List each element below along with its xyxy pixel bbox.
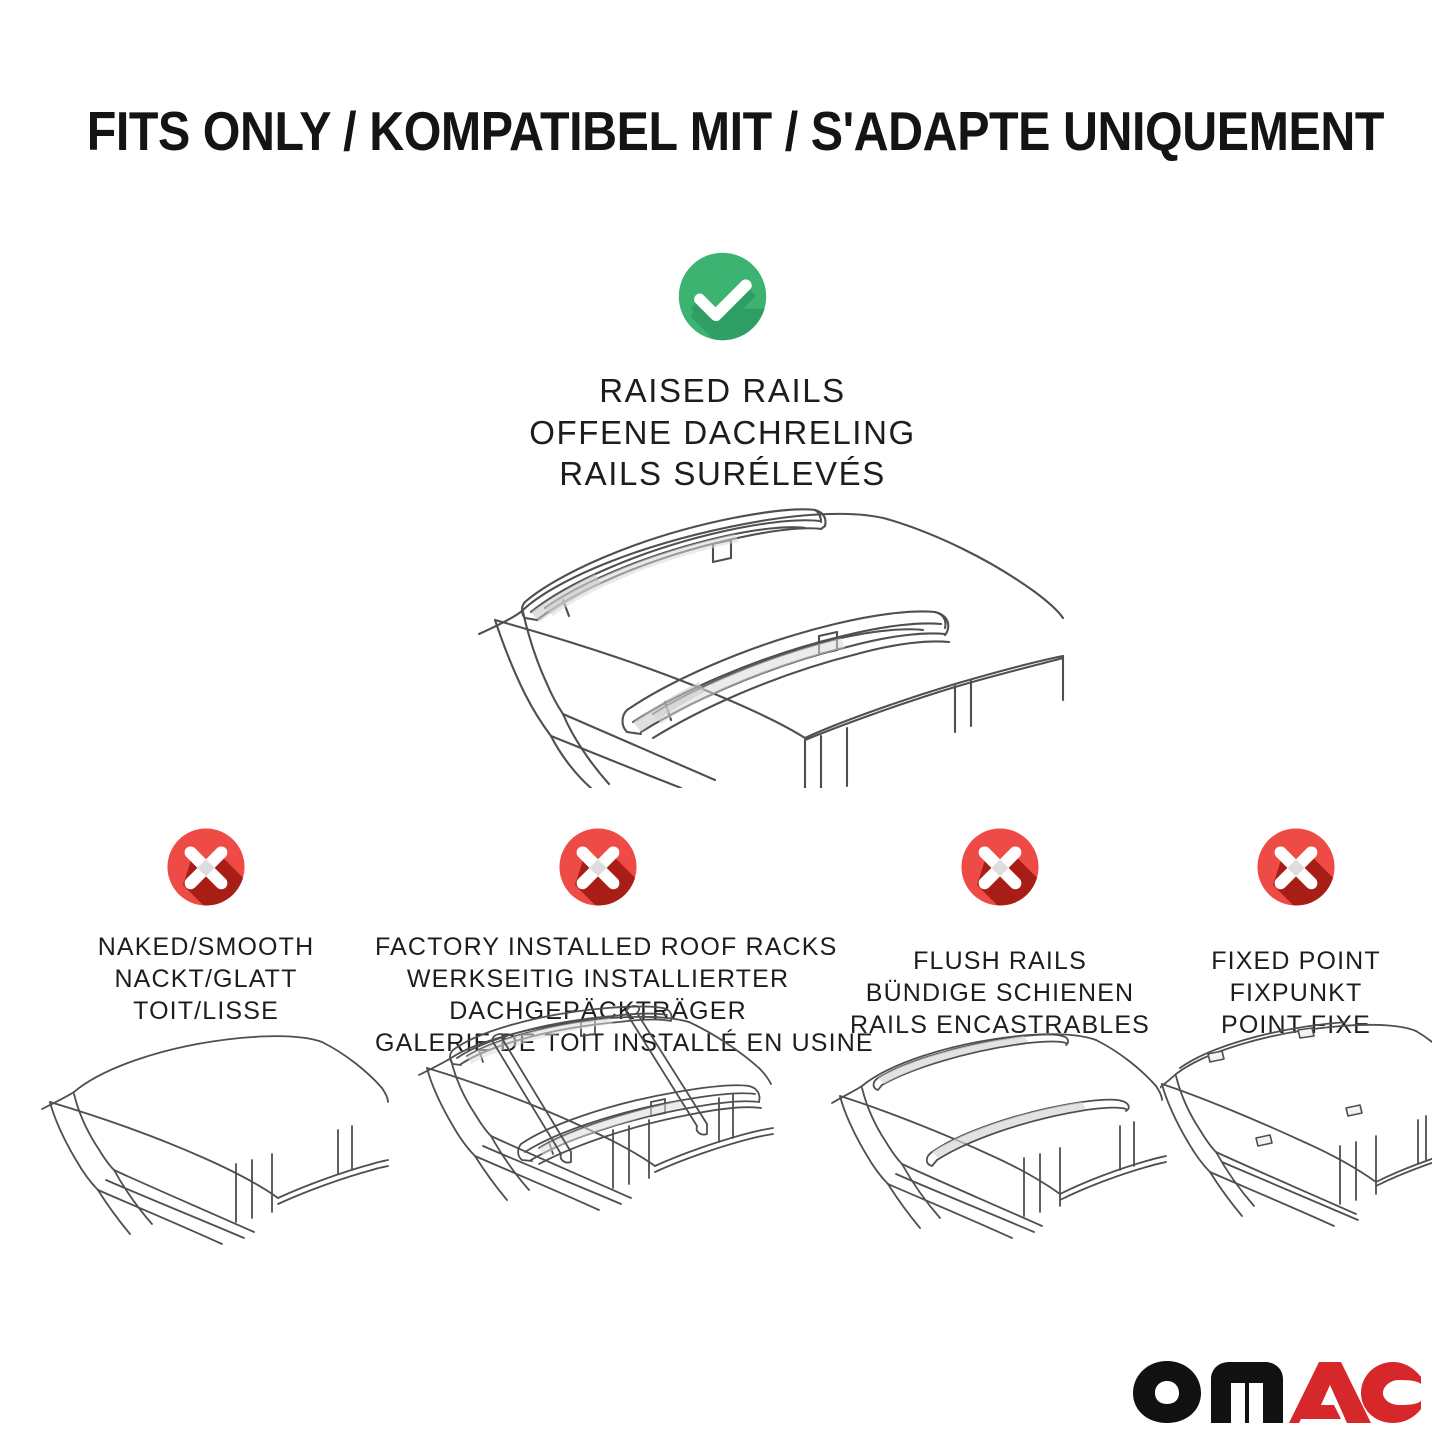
incompatible-label-naked-de: NACKT/GLATT: [20, 963, 392, 995]
cross-circle-icon: [557, 826, 639, 908]
compatible-label-de: OFFENE DACHRELING: [0, 412, 1445, 454]
logo-letter-m: [1211, 1362, 1283, 1423]
car-roof-naked-smooth-illustration: [20, 1012, 392, 1262]
car-roof-factory-racks-illustration: [375, 1002, 821, 1262]
incompatible-column-naked: NAKED/SMOOTH NACKT/GLATT TOIT/LISSE: [20, 826, 392, 1027]
incompatible-label-factory-de1: WERKSEITIG INSTALLIERTER: [375, 963, 821, 995]
page-title: FITS ONLY / KOMPATIBEL MIT / S'ADAPTE UN…: [87, 104, 1359, 159]
incompatible-label-flush-en: FLUSH RAILS: [820, 945, 1180, 977]
logo-letter-a: [1289, 1362, 1371, 1423]
incompatible-section: NAKED/SMOOTH NACKT/GLATT TOIT/LISSE: [0, 826, 1445, 1286]
cross-circle-icon: [959, 826, 1041, 908]
incompatible-label-naked-en: NAKED/SMOOTH: [20, 931, 392, 963]
incompatible-label-fixedpoint-en: FIXED POINT: [1160, 945, 1432, 977]
logo-letter-o: [1133, 1361, 1201, 1423]
incompatible-column-flush: FLUSH RAILS BÜNDIGE SCHIENEN RAILS ENCAS…: [820, 826, 1180, 1041]
incompatible-label-factory-en: FACTORY INSTALLED ROOF RACKS: [375, 931, 821, 963]
compatible-label-en: RAISED RAILS: [0, 370, 1445, 412]
car-roof-fixed-point-illustration: [1160, 1012, 1432, 1262]
car-roof-flush-rails-illustration: [820, 1012, 1180, 1262]
compatible-labels: RAISED RAILS OFFENE DACHRELING RAILS SUR…: [0, 370, 1445, 495]
incompatible-label-fixedpoint-de: FIXPUNKT: [1160, 977, 1432, 1009]
header: FITS ONLY / KOMPATIBEL MIT / S'ADAPTE UN…: [0, 104, 1445, 159]
cross-circle-icon: [165, 826, 247, 908]
incompatible-column-factory: FACTORY INSTALLED ROOF RACKS WERKSEITIG …: [375, 826, 821, 1059]
compatible-section: RAISED RAILS OFFENE DACHRELING RAILS SUR…: [0, 250, 1445, 495]
check-circle-icon: [676, 250, 769, 343]
cross-circle-icon: [1255, 826, 1337, 908]
logo-letter-c: [1361, 1362, 1421, 1423]
omac-logo: [1129, 1357, 1425, 1425]
car-roof-raised-rails-illustration: [395, 488, 1085, 788]
incompatible-label-flush-de: BÜNDIGE SCHIENEN: [820, 977, 1180, 1009]
incompatible-column-fixedpoint: FIXED POINT FIXPUNKT POINT FIXE: [1160, 826, 1432, 1041]
